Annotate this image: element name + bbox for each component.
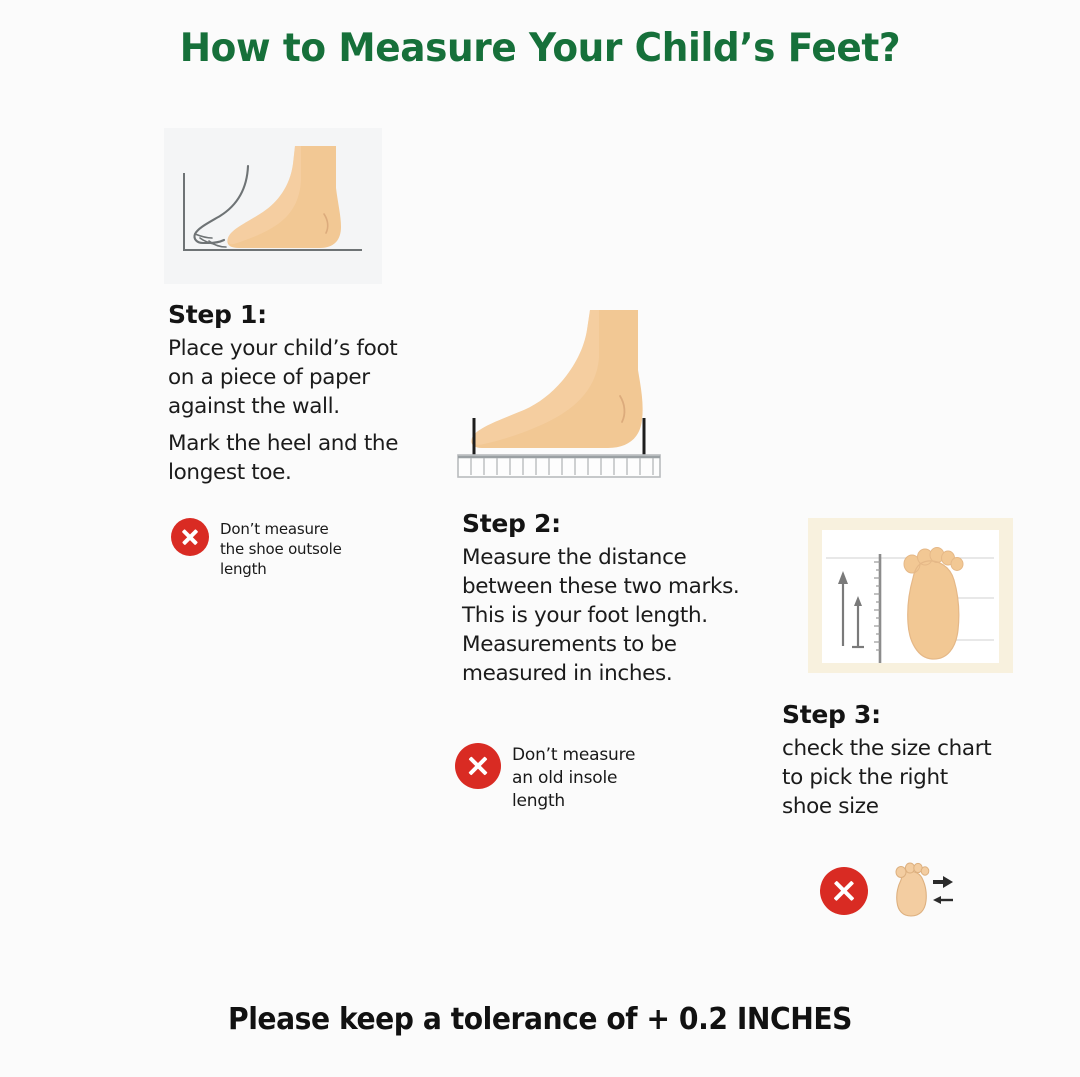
infographic-canvas: How to Measure Your Child’s Feet? Step 1…	[0, 0, 1080, 1077]
page-title: How to Measure Your Child’s Feet?	[22, 26, 1059, 71]
red-x-circle-icon	[171, 518, 209, 556]
step-1-heading: Step 1:	[168, 300, 408, 329]
step-2-line-2: between these two marks.	[462, 574, 739, 599]
step-3-line-2: to pick the right	[782, 765, 948, 790]
step-2-heading: Step 2:	[462, 509, 792, 538]
step-1-warning-line-2: the shoe outsole	[220, 540, 342, 558]
tolerance-note: Please keep a tolerance of + 0.2 INCHES	[32, 1002, 1047, 1037]
step-2-warning-line-2: an old insole	[512, 768, 617, 788]
step-1-text-block: Step 1: Place your child’s foot on a pie…	[168, 300, 408, 487]
step-3-warning	[820, 862, 955, 920]
step-3-body: check the size chart to pick the right s…	[782, 734, 1022, 821]
step-2-warning-line-1: Don’t measure	[512, 745, 635, 765]
step-3-text-block: Step 3: check the size chart to pick the…	[782, 700, 1022, 821]
step-2-line-4: Measurements to be	[462, 632, 677, 657]
step-1-line-3: against the wall.	[168, 394, 340, 419]
step-1-line-5: longest toe.	[168, 460, 292, 485]
foot-against-wall-graphic	[164, 128, 382, 284]
step-2-warning-line-3: length	[512, 791, 565, 811]
step-1-body: Place your child’s foot on a piece of pa…	[168, 334, 408, 487]
foot-on-ruler-graphic	[452, 300, 682, 482]
step-1-line-1: Place your child’s foot	[168, 336, 397, 361]
step-3-line-1: check the size chart	[782, 736, 991, 761]
step-2-line-5: measured in inches.	[462, 661, 672, 686]
step-1-illustration	[164, 128, 382, 284]
step-1-line-4: Mark the heel and the	[168, 431, 398, 456]
step-2-illustration	[452, 300, 682, 482]
step-2-warning: Don’t measure an old insole length	[455, 743, 635, 813]
step-2-body: Measure the distance between these two m…	[462, 543, 792, 688]
red-x-circle-icon	[820, 867, 868, 915]
step-1-warning-line-3: length	[220, 560, 267, 578]
step-2-line-1: Measure the distance	[462, 545, 686, 570]
step-3-line-3: shoe size	[782, 794, 879, 819]
footprint-width-arrows-icon	[879, 862, 955, 920]
step-1-warning: Don’t measure the shoe outsole length	[171, 518, 342, 579]
step-1-warning-line-1: Don’t measure	[220, 520, 328, 538]
step-1-line-2: on a piece of paper	[168, 365, 370, 390]
footprint-ruler-graphic	[808, 518, 1013, 673]
step-3-illustration	[808, 518, 1013, 673]
step-2-text-block: Step 2: Measure the distance between the…	[462, 509, 792, 688]
step-3-heading: Step 3:	[782, 700, 1022, 729]
red-x-circle-icon	[455, 743, 501, 789]
step-1-warning-text: Don’t measure the shoe outsole length	[220, 518, 342, 579]
step-2-line-3: This is your foot length.	[462, 603, 708, 628]
step-2-warning-text: Don’t measure an old insole length	[512, 743, 635, 813]
